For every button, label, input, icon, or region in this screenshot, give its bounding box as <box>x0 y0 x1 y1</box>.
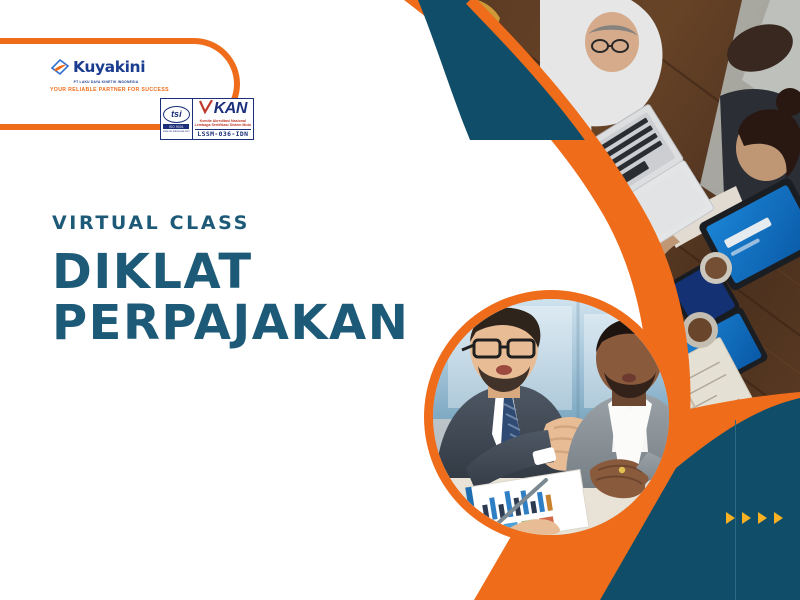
kan-certification-badge: tsi ISO 9001 www.tsi-indonesia.com KAN K… <box>160 98 254 140</box>
play-triangle-icon <box>742 512 751 524</box>
kan-block: KAN Komite Akreditasi Nasional Lembaga S… <box>193 99 253 139</box>
title-line-2: PERPAJAKAN <box>52 298 409 349</box>
red-check-icon <box>199 100 213 119</box>
tsi-block: tsi ISO 9001 www.tsi-indonesia.com <box>161 99 193 139</box>
arrow-indicators <box>726 512 783 524</box>
kan-wordmark: KAN <box>214 101 247 117</box>
play-triangle-icon <box>758 512 767 524</box>
vertical-rule <box>735 420 736 600</box>
tsi-url: www.tsi-indonesia.com <box>163 130 189 133</box>
tsi-mark-text: tsi <box>171 110 182 119</box>
play-triangle-icon <box>774 512 783 524</box>
iso-label: ISO 9001 <box>163 124 189 129</box>
title-line-1: DIKLAT <box>52 247 409 298</box>
play-triangle-icon <box>726 512 735 524</box>
tsi-logo-icon: tsi <box>163 106 190 123</box>
headline-block: VIRTUAL CLASS DIKLAT PERPAJAKAN <box>52 214 409 349</box>
kuyakini-wordmark: Kuyakini <box>73 60 145 76</box>
kuyakini-logo: Kuyakini PT LAKU DAYA KINETIK INDONESIA … <box>50 58 162 93</box>
eyebrow-label: VIRTUAL CLASS <box>52 214 409 233</box>
slide-canvas: Kuyakini PT LAKU DAYA KINETIK INDONESIA … <box>0 0 800 600</box>
kan-line-2: Lembaga Sertifikasi Sistem Mutu <box>195 123 251 127</box>
kan-code: LSSM-036-IDN <box>195 129 251 139</box>
logo-row: Kuyakini PT LAKU DAYA KINETIK INDONESIA … <box>40 38 280 130</box>
diamond-swoosh-icon <box>50 58 70 78</box>
kuyakini-legal-name: PT LAKU DAYA KINETIK INDONESIA <box>50 80 162 84</box>
kuyakini-tagline: YOUR RELIABLE PARTNER FOR SUCCESS <box>50 87 162 93</box>
